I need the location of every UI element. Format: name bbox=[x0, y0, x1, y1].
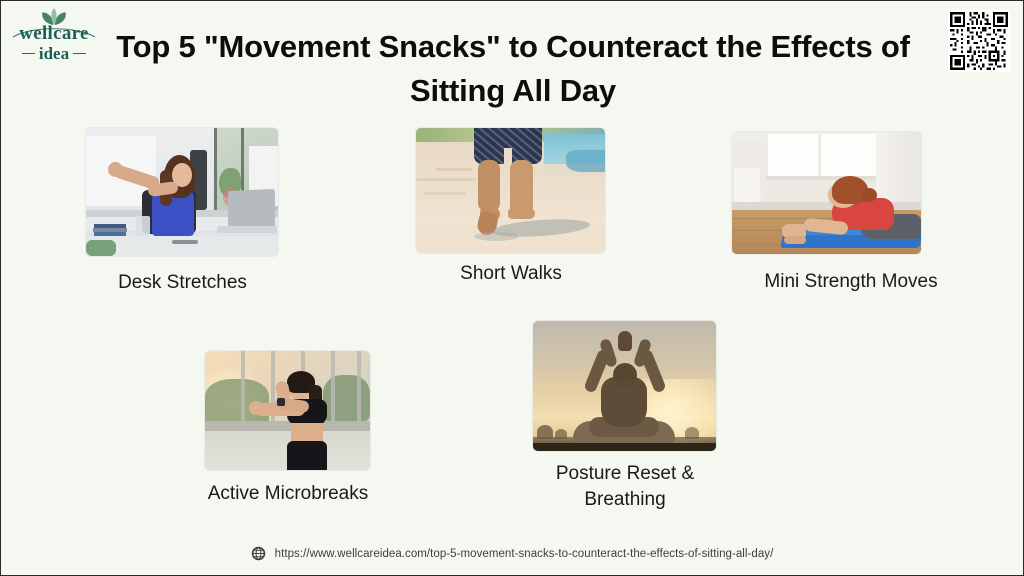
globe-icon bbox=[251, 546, 266, 561]
logo-subline: idea bbox=[22, 45, 86, 62]
page-title: Top 5 "Movement Snacks" to Counteract th… bbox=[113, 25, 913, 113]
footer-source: https://www.wellcareidea.com/top-5-movem… bbox=[1, 546, 1023, 561]
slide-canvas: wellcare idea bbox=[0, 0, 1024, 576]
logo-rule-left bbox=[22, 53, 35, 54]
caption-active-microbreaks: Active Microbreaks bbox=[175, 481, 401, 507]
card-mini-strength-moves: Mini Strength Moves bbox=[732, 132, 921, 254]
qr-code[interactable] bbox=[948, 10, 1010, 72]
image-short-walks bbox=[416, 128, 605, 253]
card-short-walks: Short Walks bbox=[416, 128, 605, 253]
card-desk-stretches: Desk Stretches bbox=[86, 128, 278, 256]
image-active-microbreaks bbox=[205, 351, 370, 470]
caption-mini-strength-moves: Mini Strength Moves bbox=[726, 269, 976, 295]
caption-short-walks: Short Walks bbox=[413, 261, 609, 287]
card-posture-reset-breathing: Posture Reset & Breathing bbox=[533, 321, 716, 451]
logo-sub-text: idea bbox=[39, 45, 69, 62]
image-mini-strength-moves bbox=[732, 132, 921, 254]
caption-desk-stretches: Desk Stretches bbox=[60, 270, 305, 296]
image-posture-reset-breathing bbox=[533, 321, 716, 451]
caption-posture-reset-breathing: Posture Reset & Breathing bbox=[529, 461, 721, 512]
image-desk-stretches bbox=[86, 128, 278, 256]
wellcare-idea-logo[interactable]: wellcare idea bbox=[9, 7, 99, 69]
logo-rule-right bbox=[73, 53, 86, 54]
logo-wordmark: wellcare bbox=[19, 24, 89, 43]
card-active-microbreaks: Active Microbreaks bbox=[205, 351, 370, 470]
source-url[interactable]: https://www.wellcareidea.com/top-5-movem… bbox=[275, 548, 774, 560]
